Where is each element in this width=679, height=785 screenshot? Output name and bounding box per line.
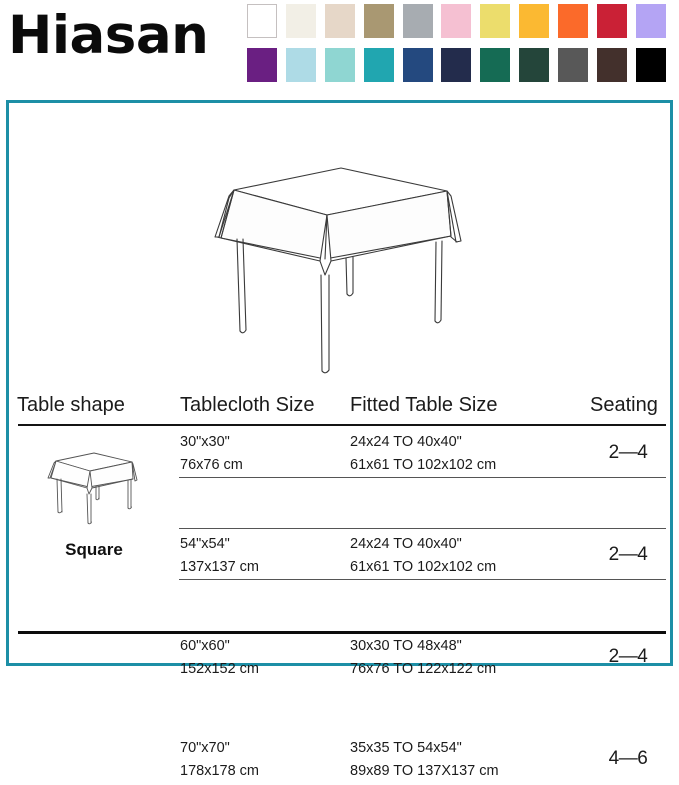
fitted-size-inches: 35x35 TO 54x54" [350, 736, 462, 760]
fitted-size-cm: 61x61 TO 102x102 cm [350, 453, 496, 477]
swatch-dark-grey[interactable] [558, 48, 597, 86]
swatch-color-navy-blue [403, 48, 433, 82]
fitted-size-cm: 89x89 TO 137X137 cm [350, 759, 499, 783]
cloth-size-cm: 178x178 cm [180, 759, 259, 783]
swatch-emerald[interactable] [480, 48, 519, 86]
fitted-size-inches: 30x30 TO 48x48" [350, 634, 462, 658]
cloth-size-inches: 54"x54" [180, 532, 230, 556]
swatch-color-emerald [480, 48, 510, 82]
swatch-color-orange [558, 4, 588, 38]
swatch-light-yellow[interactable] [480, 4, 519, 42]
swatch-color-dark-brown [597, 48, 627, 82]
swatch-color-purple [247, 48, 277, 82]
swatch-dark-brown[interactable] [597, 48, 636, 86]
color-swatch-grid [247, 4, 675, 86]
table-header-row: Table shape Tablecloth Size Fitted Table… [9, 386, 670, 424]
row-divider [179, 477, 666, 478]
swatch-red[interactable] [597, 4, 636, 42]
swatch-color-lavender [636, 4, 666, 38]
swatch-navy-blue[interactable] [403, 48, 442, 86]
table-row: 30"x30" 76x76 cm 24x24 TO 40x40" 61x61 T… [9, 428, 670, 479]
swatch-black[interactable] [636, 48, 675, 86]
swatch-gold[interactable] [519, 4, 558, 42]
cloth-size-inches: 70"x70" [180, 736, 230, 760]
cloth-size-cm: 152x152 cm [180, 657, 259, 681]
swatch-forest-green[interactable] [519, 48, 558, 86]
swatch-color-white [247, 4, 277, 38]
column-header-seating: Seating [590, 394, 658, 417]
row-divider [179, 579, 666, 580]
swatch-color-beige [325, 4, 355, 38]
swatch-color-aqua [325, 48, 355, 82]
fitted-size-inches: 24x24 TO 40x40" [350, 532, 462, 556]
swatch-color-gold [519, 4, 549, 38]
swatch-color-dark-grey [558, 48, 588, 82]
column-header-table-shape: Table shape [17, 394, 125, 417]
cell-seating: 2—4 [590, 646, 666, 668]
table-body: 30"x30" 76x76 cm 24x24 TO 40x40" 61x61 T… [9, 426, 670, 630]
swatch-dark-navy[interactable] [441, 48, 480, 86]
column-header-tablecloth-size: Tablecloth Size [180, 394, 315, 417]
swatch-row-2 [247, 48, 675, 86]
cloth-size-cm: 76x76 cm [180, 453, 243, 477]
swatch-pink[interactable] [441, 4, 480, 42]
swatch-color-red [597, 4, 627, 38]
fitted-size-cm: 76x76 TO 122x122 cm [350, 657, 496, 681]
swatch-color-forest-green [519, 48, 549, 82]
cloth-size-inches: 30"x30" [180, 430, 230, 454]
size-guide-panel: Table shape Tablecloth Size Fitted Table… [6, 100, 673, 666]
swatch-color-pink [441, 4, 471, 38]
swatch-beige[interactable] [325, 4, 364, 42]
swatch-powder-blue[interactable] [286, 48, 325, 86]
swatch-orange[interactable] [558, 4, 597, 42]
cloth-size-inches: 60"x60" [180, 634, 230, 658]
swatch-white[interactable] [247, 4, 286, 42]
row-divider [179, 528, 666, 529]
swatch-color-dark-navy [441, 48, 471, 82]
cell-seating: 4—6 [590, 748, 666, 770]
swatch-grey[interactable] [403, 4, 442, 42]
table-bottom-divider [18, 631, 666, 634]
swatch-row-1 [247, 4, 675, 42]
swatch-teal[interactable] [364, 48, 403, 86]
swatch-aqua[interactable] [325, 48, 364, 86]
swatch-color-teal [364, 48, 394, 82]
table-row: 54"x54" 137x137 cm 24x24 TO 40x40" 61x61… [9, 530, 670, 581]
swatch-color-powder-blue [286, 48, 316, 82]
swatch-color-grey [403, 4, 433, 38]
table-row: 60"x60" 152x152 cm 30x30 TO 48x48" 76x76… [9, 632, 670, 683]
swatch-purple[interactable] [247, 48, 286, 86]
swatch-lavender[interactable] [636, 4, 675, 42]
table-illustration-hero-icon [185, 149, 495, 381]
cloth-size-cm: 137x137 cm [180, 555, 259, 579]
table-row: 70"x70" 178x178 cm 35x35 TO 54x54" 89x89… [9, 734, 670, 785]
swatch-color-light-yellow [480, 4, 510, 38]
cell-seating: 2—4 [590, 544, 666, 566]
brand-logo: Hiasan [8, 4, 208, 68]
swatch-color-black [636, 48, 666, 82]
cell-seating: 2—4 [590, 442, 666, 464]
swatch-ivory[interactable] [286, 4, 325, 42]
fitted-size-cm: 61x61 TO 102x102 cm [350, 555, 496, 579]
fitted-size-inches: 24x24 TO 40x40" [350, 430, 462, 454]
column-header-fitted-table-size: Fitted Table Size [350, 394, 498, 417]
swatch-taupe[interactable] [364, 4, 403, 42]
size-spec-table: Table shape Tablecloth Size Fitted Table… [9, 386, 670, 666]
swatch-color-taupe [364, 4, 394, 38]
page-header: Hiasan [0, 0, 679, 96]
swatch-color-ivory [286, 4, 316, 38]
